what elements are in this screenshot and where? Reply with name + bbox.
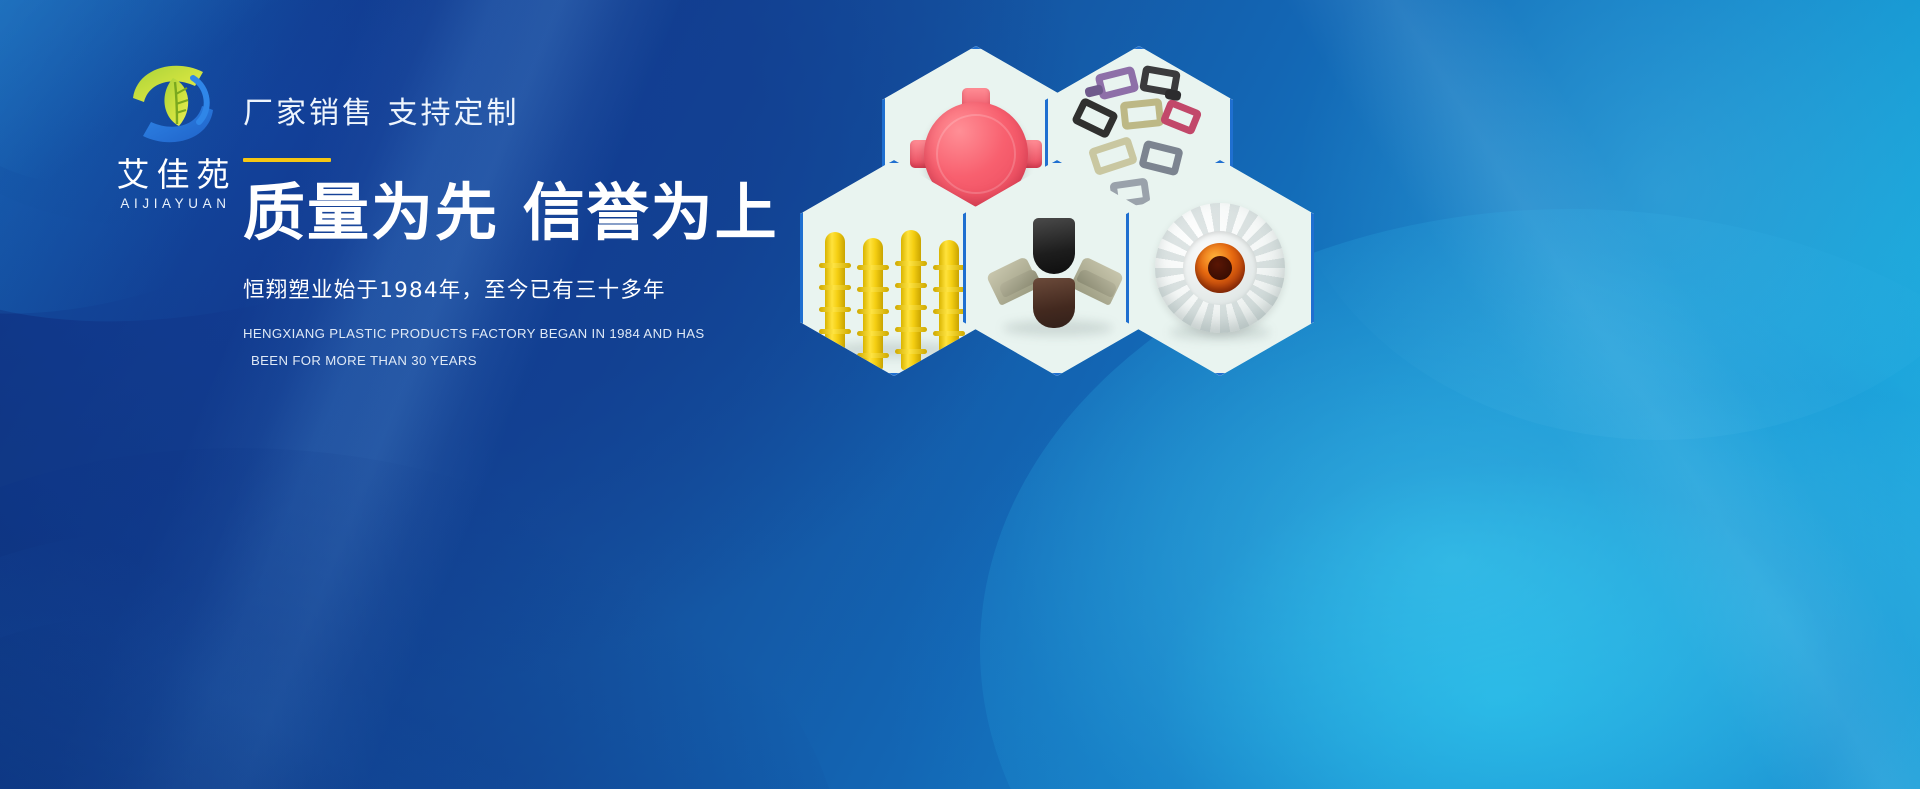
subtitle-text: 恒翔塑业始于1984年，至今已有三十多年 [243, 273, 779, 304]
logo-name-en: AIJIAYUAN [78, 196, 268, 211]
logo-name-cn: 艾佳苑 [78, 158, 268, 193]
banner-content: 艾佳苑 AIJIAYUAN 厂家销售 支持定制 质量为先 信誉为上 恒翔塑业始于… [0, 0, 820, 789]
hero-banner: 艾佳苑 AIJIAYUAN 厂家销售 支持定制 质量为先 信誉为上 恒翔塑业始于… [0, 0, 1920, 789]
cyan-glow-decoration [1280, 0, 1920, 440]
page-title: 质量为先 信誉为上 [243, 180, 779, 247]
accent-divider [243, 158, 331, 162]
english-description: HENGXIANG PLASTIC PRODUCTS FACTORY BEGAN… [243, 320, 779, 374]
headline-block: 厂家销售 支持定制 质量为先 信誉为上 恒翔塑业始于1984年，至今已有三十多年… [243, 88, 779, 374]
leaf-swoosh-logo-icon [117, 52, 229, 156]
yellow-wall-anchors-icon [821, 220, 967, 370]
product-hexagon-cluster [800, 44, 1320, 390]
white-lamp-holder-icon [1155, 203, 1285, 333]
kicker-text: 厂家销售 支持定制 [243, 88, 779, 132]
english-line-1: HENGXIANG PLASTIC PRODUCTS FACTORY BEGAN… [243, 320, 779, 347]
english-line-2: BEEN FOR MORE THAN 30 YEARS [243, 347, 779, 374]
company-logo[interactable]: 艾佳苑 AIJIAYUAN [78, 52, 268, 211]
